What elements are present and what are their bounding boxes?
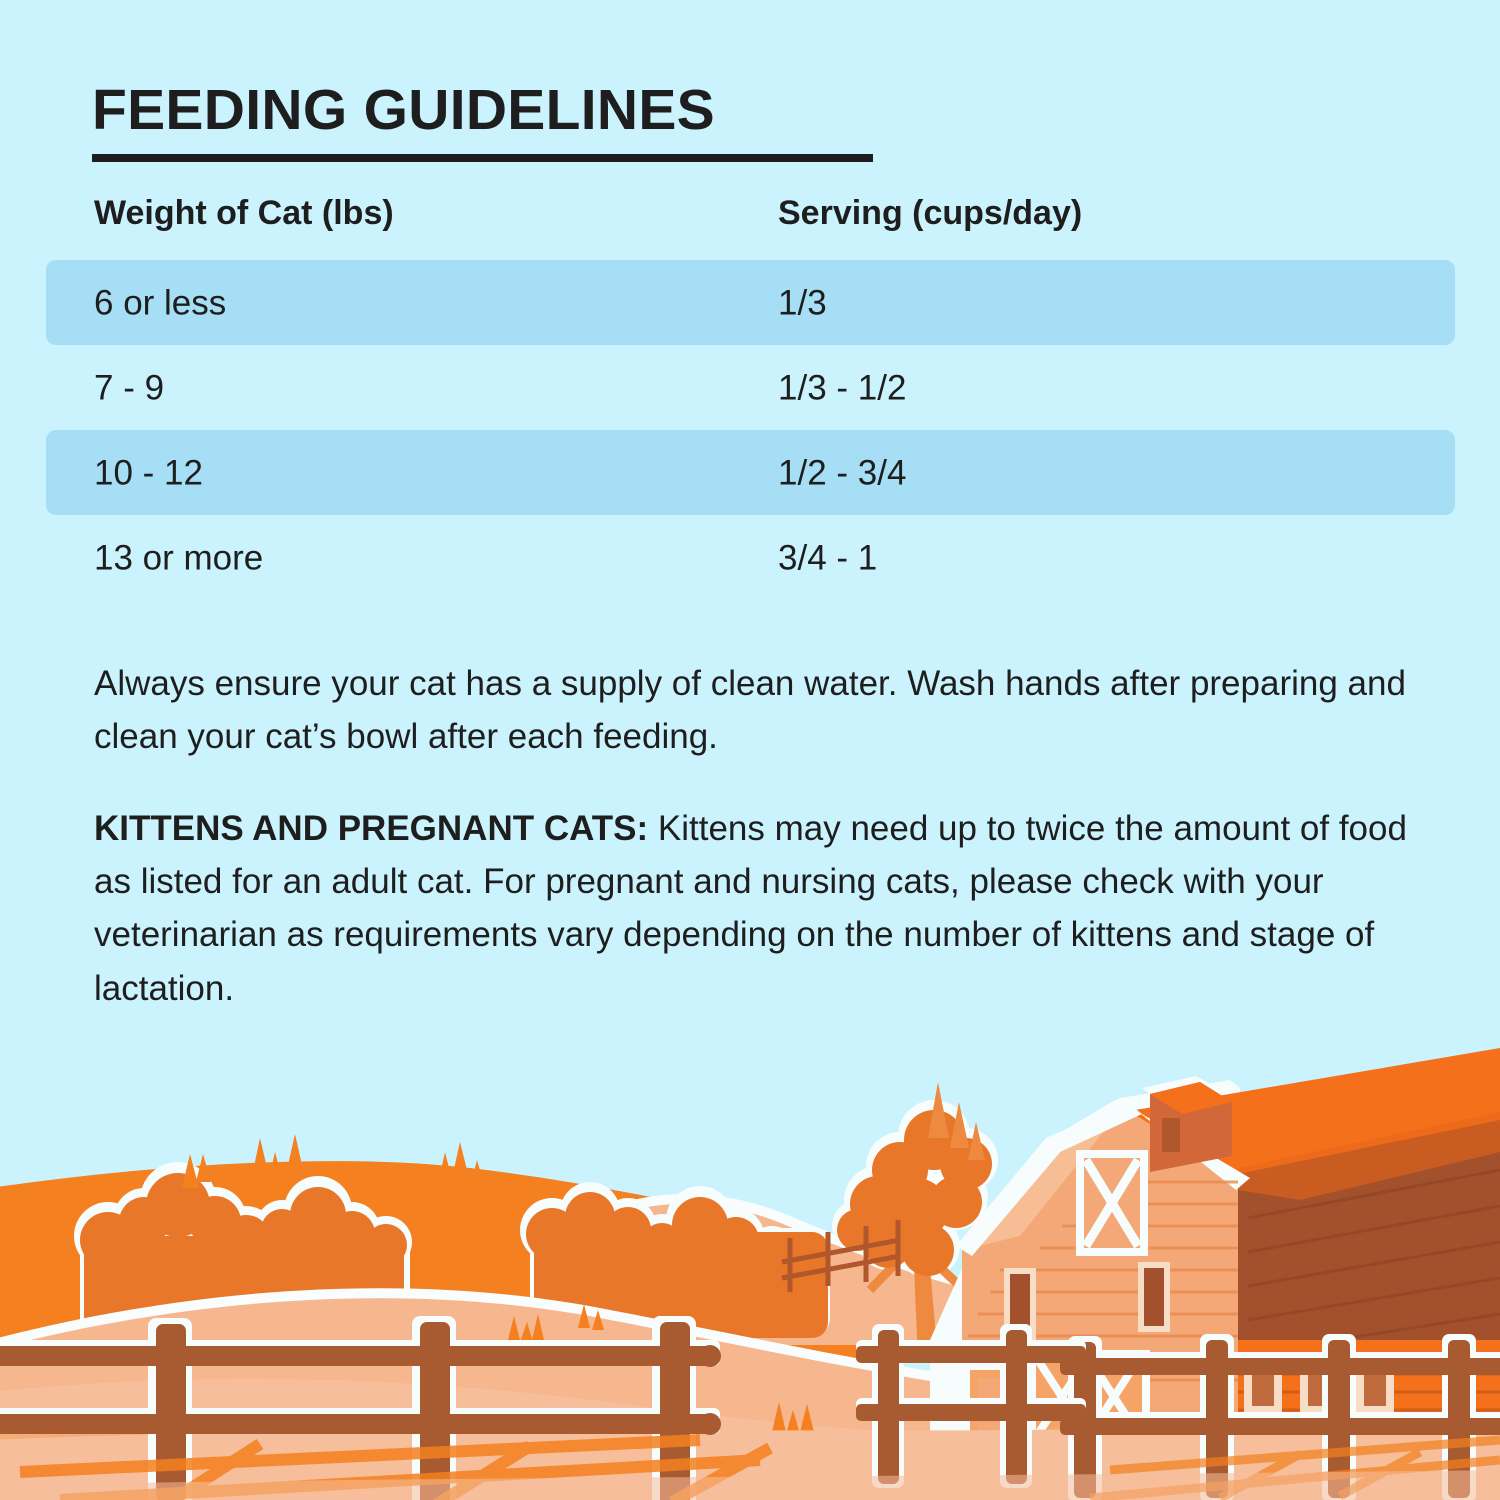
column-header-weight: Weight of Cat (lbs) [94,196,394,230]
kittens-note: KITTENS AND PREGNANT CATS: Kittens may n… [94,802,1424,1015]
cell-serving: 1/2 - 3/4 [778,455,906,490]
row-highlight [46,345,1455,430]
feeding-guidelines-panel: FEEDING GUIDELINES Weight of Cat (lbs) S… [0,0,1500,1500]
table-row: 6 or less 1/3 [0,260,1500,345]
feeding-table: Weight of Cat (lbs) Serving (cups/day) 6… [0,196,1500,600]
table-header-row: Weight of Cat (lbs) Serving (cups/day) [0,196,1500,254]
row-highlight [46,260,1455,345]
cell-serving: 1/3 [778,285,827,320]
cell-weight: 10 - 12 [94,455,203,490]
column-header-serving: Serving (cups/day) [778,196,1082,230]
table-row: 7 - 9 1/3 - 1/2 [0,345,1500,430]
cell-serving: 1/3 - 1/2 [778,370,906,405]
water-note: Always ensure your cat has a supply of c… [94,657,1424,763]
table-row: 13 or more 3/4 - 1 [0,515,1500,600]
table-row: 10 - 12 1/2 - 3/4 [0,430,1500,515]
cell-serving: 3/4 - 1 [778,540,877,575]
hayloft-door [1076,1150,1148,1256]
kittens-note-label: KITTENS AND PREGNANT CATS: [94,809,648,848]
cell-weight: 13 or more [94,540,263,575]
table-body: 6 or less 1/3 7 - 9 1/3 - 1/2 10 - 12 1/… [0,260,1500,600]
cell-weight: 6 or less [94,285,226,320]
farm-illustration [0,1040,1500,1500]
title-underline [92,154,873,162]
cell-weight: 7 - 9 [94,370,164,405]
row-highlight [46,430,1455,515]
page-title: FEEDING GUIDELINES [92,82,715,139]
